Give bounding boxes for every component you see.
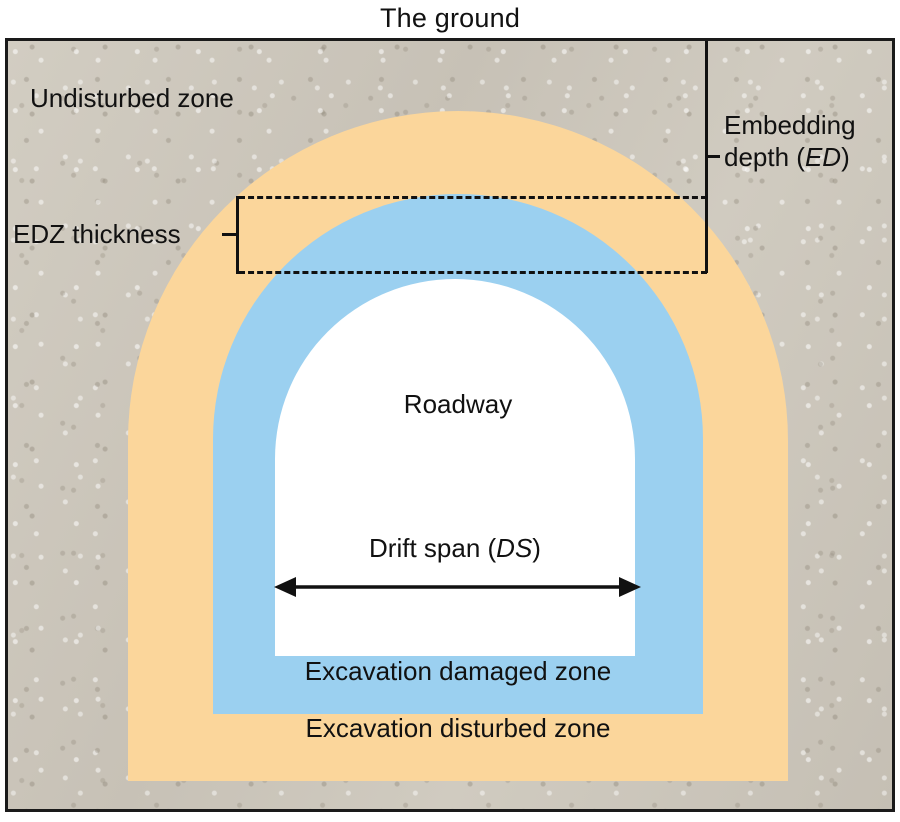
embedding-depth-prefix: depth ( <box>724 142 805 172</box>
excavation-zones-diagram: The ground Undisturbed zone Roadway Exca… <box>0 0 900 822</box>
drift-span-suffix: ) <box>532 533 541 563</box>
edz-thickness-dashed-line-top <box>239 196 707 199</box>
embedding-depth-label-line2: depth (ED) <box>724 141 894 173</box>
embedding-depth-label: Embedding depth (ED) <box>724 109 894 173</box>
drift-span-double-arrow <box>270 574 645 600</box>
edz-thickness-dashed-line-bottom <box>239 271 707 274</box>
excavation-disturbed-zone-label: Excavation disturbed zone <box>128 713 788 743</box>
excavation-damaged-zone-label: Excavation damaged zone <box>128 656 788 686</box>
edz-thickness-bracket-tick <box>222 233 239 236</box>
embedding-depth-suffix: ) <box>841 142 850 172</box>
undisturbed-zone-label: Undisturbed zone <box>30 83 234 113</box>
embedding-depth-symbol: ED <box>805 142 841 172</box>
edz-thickness-label: EDZ thickness <box>13 219 181 249</box>
rock-mass-frame: Undisturbed zone Roadway Excavation dama… <box>5 38 895 812</box>
drift-span-label: Drift span (DS) <box>275 533 635 563</box>
drift-span-symbol: DS <box>496 533 532 563</box>
embedding-depth-label-line1: Embedding <box>724 109 894 141</box>
drift-span-prefix: Drift span ( <box>369 533 496 563</box>
embedding-depth-bracket-tick <box>705 155 720 158</box>
page-title: The ground <box>0 2 900 34</box>
roadway-label: Roadway <box>128 389 788 419</box>
